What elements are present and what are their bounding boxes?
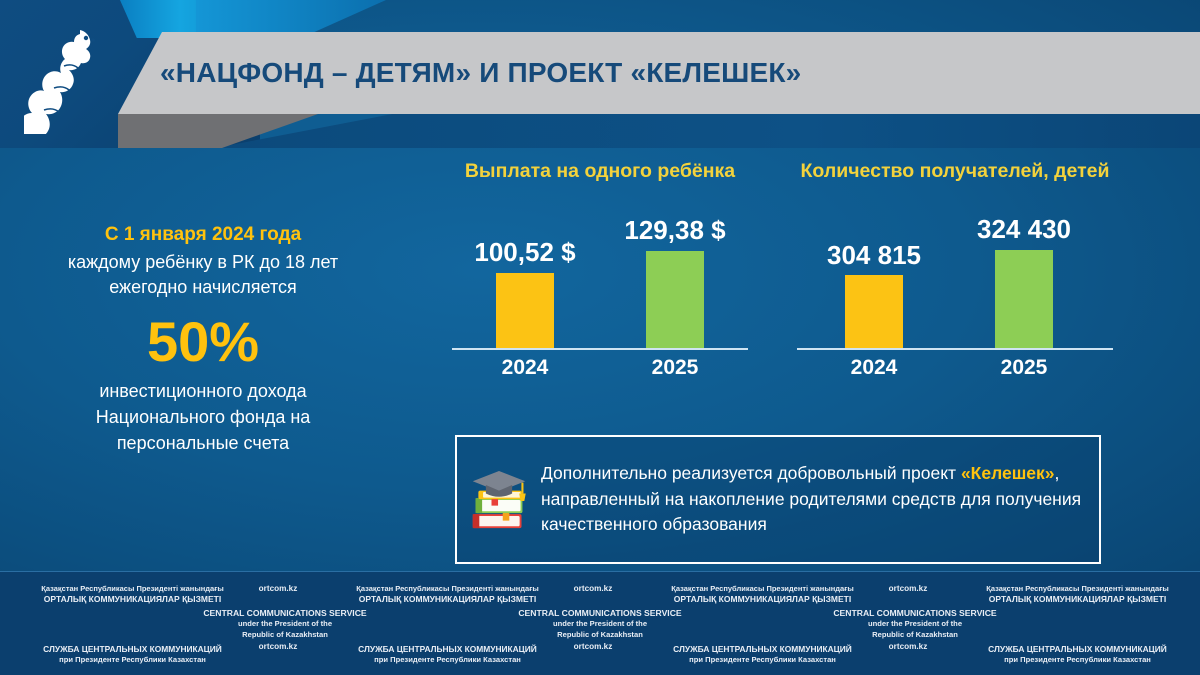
- footer-url: ortcom.kz: [228, 584, 328, 593]
- slide-root: «НАЦФОНД – ДЕТЯМ» И ПРОЕКТ «КЕЛЕШЕК» С 1…: [0, 0, 1200, 675]
- callout-highlight: «Келешек»: [961, 463, 1055, 483]
- footer-kz-line1: Қазақстан Республикасы Президенті жанынд…: [970, 584, 1185, 594]
- bar-fill: [845, 275, 903, 348]
- footer-en-line3: Republic of Kazakhstan: [815, 630, 1015, 641]
- footer-en-line3: Republic of Kazakhstan: [500, 630, 700, 641]
- footer-ru-line2: при Президенте Республики Казахстан: [970, 655, 1185, 665]
- bar-fill: [646, 251, 704, 348]
- bar-value-label: 129,38 $: [624, 215, 725, 246]
- left-description: инвестиционного дохода Национального фон…: [48, 379, 358, 456]
- footer-en-line1: CENTRAL COMMUNICATIONS SERVICE: [815, 607, 1015, 619]
- chart-axis-line: [452, 348, 748, 350]
- page-title: «НАЦФОНД – ДЕТЯМ» И ПРОЕКТ «КЕЛЕШЕК»: [160, 32, 1160, 114]
- header-blue-underbar: [215, 114, 1200, 148]
- bar-value-label: 324 430: [977, 214, 1071, 245]
- footer-en-line3: Republic of Kazakhstan: [185, 630, 385, 641]
- callout-text: Дополнительно реализуется добровольный п…: [541, 461, 1099, 537]
- callout-box: Дополнительно реализуется добровольный п…: [455, 435, 1101, 564]
- bar-fill: [995, 250, 1053, 348]
- left-percent-highlight: 50%: [48, 311, 358, 374]
- x-label-2024: 2024: [502, 356, 549, 380]
- footer-kz-line2: ОРТАЛЫҚ КОММУНИКАЦИЯЛАР ҚЫЗМЕТІ: [970, 594, 1185, 605]
- left-subline: каждому ребёнку в РК до 18 лет ежегодно …: [48, 250, 358, 301]
- footer-en-line1: CENTRAL COMMUNICATIONS SERVICE: [500, 607, 700, 619]
- footer-en-line2: under the President of the: [185, 619, 385, 630]
- footer-ru-line1: СЛУЖБА ЦЕНТРАЛЬНЫХ КОММУНИКАЦИЙ: [655, 644, 870, 655]
- footer-kz-line2: ОРТАЛЫҚ КОММУНИКАЦИЯЛАР ҚЫЗМЕТІ: [655, 594, 870, 605]
- footer-kz-line1: Қазақстан Республикасы Президенті жанынд…: [340, 584, 555, 594]
- chart-plot-area: 100,52 $ 129,38 $: [440, 200, 760, 350]
- header-cyan-accent-2: [196, 0, 386, 34]
- bar-value-label: 304 815: [827, 240, 921, 271]
- footer-url: ortcom.kz: [858, 642, 958, 651]
- footer-kz-line1: Қазақстан Республикасы Президенті жанынд…: [655, 584, 870, 594]
- header-band: «НАЦФОНД – ДЕТЯМ» И ПРОЕКТ «КЕЛЕШЕК»: [0, 0, 1200, 148]
- x-label-2025: 2025: [1001, 356, 1048, 380]
- chart-plot-area: 304 815 324 430: [785, 200, 1125, 350]
- footer-kz-line1: Қазақстан Республикасы Президенті жанынд…: [25, 584, 240, 594]
- chart-x-labels: 2024 2025: [785, 356, 1125, 382]
- footer-ru-line2: при Президенте Республики Казахстан: [655, 655, 870, 665]
- footer-ru-line2: при Президенте Республики Казахстан: [25, 655, 240, 665]
- footer-url: ortcom.kz: [228, 642, 328, 651]
- footer-url: ortcom.kz: [543, 584, 643, 593]
- footer-kz-line2: ОРТАЛЫҚ КОММУНИКАЦИЯЛАР ҚЫЗМЕТІ: [25, 594, 240, 605]
- chart-payment-per-child: Выплата на одного ребёнка 100,52 $ 129,3…: [440, 160, 760, 390]
- footer-ru-line2: при Президенте Республики Казахстан: [340, 655, 555, 665]
- chart-title: Выплата на одного ребёнка: [440, 160, 760, 183]
- footer-ru-line1: СЛУЖБА ЦЕНТРАЛЬНЫХ КОММУНИКАЦИЙ: [970, 644, 1185, 655]
- snow-leopard-emblem: [24, 22, 108, 134]
- chart-title: Количество получателей, детей: [785, 160, 1125, 183]
- bar-value-label: 100,52 $: [474, 237, 575, 268]
- footer-ru-line1: СЛУЖБА ЦЕНТРАЛЬНЫХ КОММУНИКАЦИЙ: [25, 644, 240, 655]
- footer-en-line1: CENTRAL COMMUNICATIONS SERVICE: [185, 607, 385, 619]
- left-statement-block: С 1 января 2024 года каждому ребёнку в Р…: [48, 222, 358, 456]
- chart-axis-line: [797, 348, 1113, 350]
- bar-fill: [496, 273, 554, 348]
- footer-ru-line1: СЛУЖБА ЦЕНТРАЛЬНЫХ КОММУНИКАЦИЙ: [340, 644, 555, 655]
- footer-url: ortcom.kz: [543, 642, 643, 651]
- callout-text-part1: Дополнительно реализуется добровольный п…: [541, 463, 961, 483]
- graduation-books-icon: [457, 467, 541, 533]
- footer-url: ortcom.kz: [858, 584, 958, 593]
- footer-en-line2: under the President of the: [815, 619, 1015, 630]
- x-label-2024: 2024: [851, 356, 898, 380]
- chart-recipients-count: Количество получателей, детей 304 815 32…: [785, 160, 1125, 390]
- footer-kz-line2: ОРТАЛЫҚ КОММУНИКАЦИЯЛАР ҚЫЗМЕТІ: [340, 594, 555, 605]
- footer-en-line2: under the President of the: [500, 619, 700, 630]
- x-label-2025: 2025: [652, 356, 699, 380]
- chart-x-labels: 2024 2025: [440, 356, 760, 382]
- footer-watermark-strip: Қазақстан Республикасы Президенті жанынд…: [0, 571, 1200, 675]
- left-date-line: С 1 января 2024 года: [48, 222, 358, 248]
